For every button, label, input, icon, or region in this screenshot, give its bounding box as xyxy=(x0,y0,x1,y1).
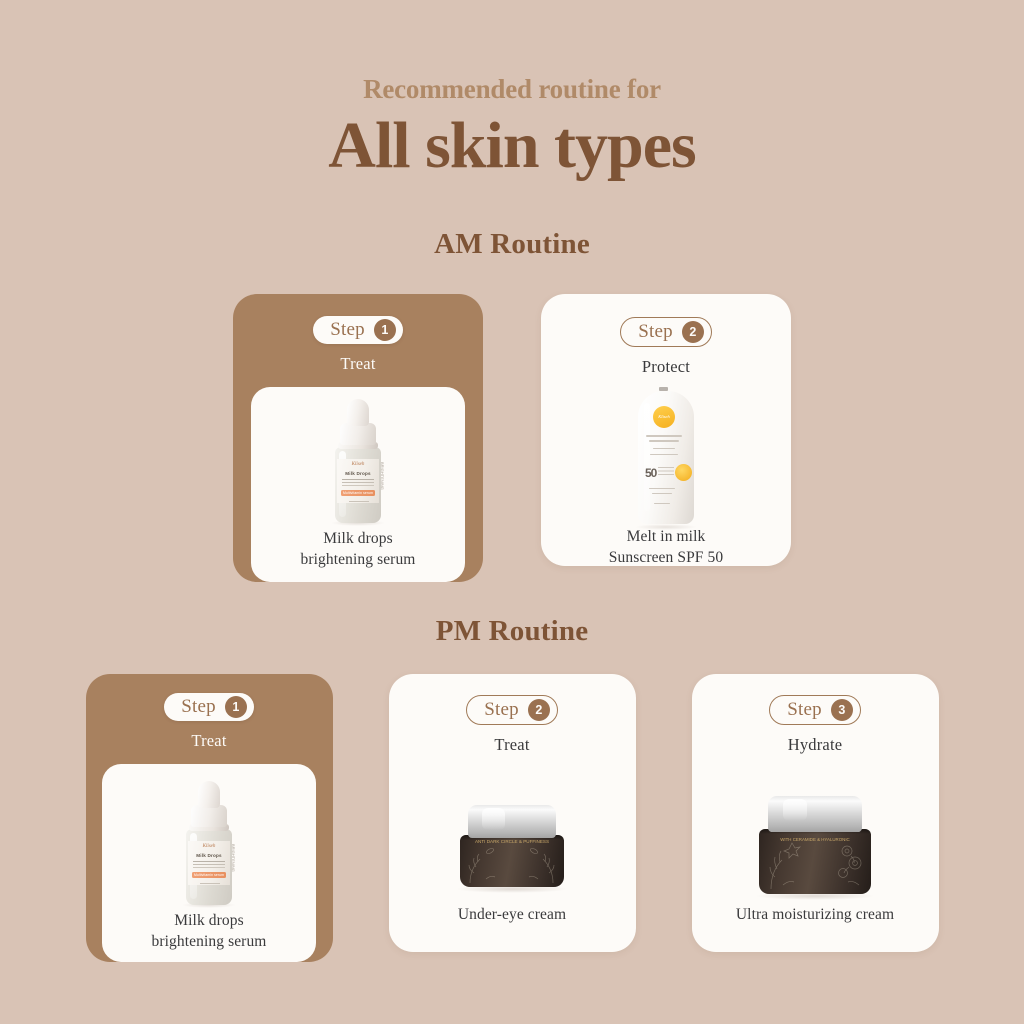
tube-brand-text: Kliseh xyxy=(653,414,675,419)
product-name-line1: Under-eye cream xyxy=(458,906,566,923)
jar-subtitle-text: WITH CERAMIDE & HYALURONIC xyxy=(759,837,871,842)
product-name-line2: Sunscreen SPF 50 xyxy=(609,549,723,566)
product-panel: Kliseh Milk Drops Multivitamin serum BRI… xyxy=(102,764,316,962)
infographic-page: Recommended routine for All skin types A… xyxy=(0,0,1024,1024)
product-image-sunscreen: Kliseh 50 xyxy=(601,385,731,527)
step-action-label: Treat xyxy=(191,731,226,751)
header-eyebrow: Recommended routine for xyxy=(0,74,1024,105)
step-badge-1: Step 1 xyxy=(313,316,403,344)
jar-subtitle-text: ANTI DARK CIRCLE & PUFFINESS xyxy=(460,839,564,844)
product-panel: Kliseh Milk Drops Multivitamin serum BRI… xyxy=(251,387,465,582)
step-label: Step xyxy=(484,700,519,719)
step-action-label: Protect xyxy=(642,357,690,377)
product-image-serum: Kliseh Milk Drops Multivitamin serum BRI… xyxy=(144,772,274,905)
product-name: Milk drops brightening serum xyxy=(301,529,416,571)
product-panel: Kliseh ULTRA MOISTURIZING CREAM WITH CER… xyxy=(692,763,939,952)
step-number: 1 xyxy=(374,319,396,341)
product-name: Milk drops brightening serum xyxy=(152,911,267,953)
serum-side-text: BRIGHTENING xyxy=(380,462,385,490)
step-number: 1 xyxy=(225,696,247,718)
cream-jar-icon: Kliseh ULTRA MOISTURIZING CREAM WITH CER… xyxy=(759,796,871,896)
step-number: 3 xyxy=(831,699,853,721)
product-name-line1: Melt in milk xyxy=(627,528,706,545)
serum-title-text: Milk Drops xyxy=(337,471,379,476)
product-name-line1: Ultra moisturizing cream xyxy=(736,906,894,923)
serum-band-text: Multivitamin serum xyxy=(192,873,226,877)
step-label: Step xyxy=(330,320,365,339)
product-name: Melt in milk Sunscreen SPF 50 xyxy=(609,527,723,569)
step-action-label: Hydrate xyxy=(788,735,843,755)
serum-band-text: Multivitamin serum xyxy=(341,491,375,495)
product-name-line2: brightening serum xyxy=(152,933,267,950)
am-step-card-1[interactable]: Step 1 Treat Kliseh Milk Drops Multivita… xyxy=(233,294,483,582)
product-panel: Kliseh UNDER EYE CREAM ANTI DARK CIRCLE … xyxy=(389,763,636,952)
step-action-label: Treat xyxy=(340,354,375,374)
step-number: 2 xyxy=(528,699,550,721)
pm-step-card-2[interactable]: Step 2 Treat xyxy=(389,674,636,952)
step-label: Step xyxy=(787,700,822,719)
pm-routine-title: PM Routine xyxy=(0,615,1024,648)
step-badge-2: Step 2 xyxy=(620,317,712,347)
pm-step-card-3[interactable]: Step 3 Hydrate xyxy=(692,674,939,952)
sunscreen-tube-icon: Kliseh 50 xyxy=(633,387,699,527)
serum-brand-text: Kliseh xyxy=(337,462,379,467)
step-label: Step xyxy=(181,697,216,716)
pm-routine-row: Step 1 Treat Kliseh Milk Drops Multivita… xyxy=(0,674,1024,962)
product-panel: Kliseh 50 Melt in milk xyxy=(541,385,791,591)
serum-bottle-icon: Kliseh Milk Drops Multivitamin serum BRI… xyxy=(328,399,388,523)
pm-step-card-1[interactable]: Step 1 Treat Kliseh Milk Drops Multivita… xyxy=(86,674,333,962)
am-step-card-2[interactable]: Step 2 Protect Kliseh 5 xyxy=(541,294,791,566)
product-name: Ultra moisturizing cream xyxy=(736,905,894,926)
page-title: All skin types xyxy=(0,109,1024,183)
product-image-serum: Kliseh Milk Drops Multivitamin serum BRI… xyxy=(293,395,423,523)
product-image-moisturizing-cream: Kliseh ULTRA MOISTURIZING CREAM WITH CER… xyxy=(735,763,895,896)
cream-jar-icon: Kliseh UNDER EYE CREAM ANTI DARK CIRCLE … xyxy=(460,805,564,889)
sun-icon xyxy=(675,464,692,481)
step-action-label: Treat xyxy=(494,735,529,755)
product-name-line1: Milk drops xyxy=(323,530,392,547)
serum-title-text: Milk Drops xyxy=(188,853,230,858)
am-routine-row: Step 1 Treat Kliseh Milk Drops Multivita… xyxy=(0,294,1024,582)
am-routine-title: AM Routine xyxy=(0,228,1024,261)
product-image-under-eye-cream: Kliseh UNDER EYE CREAM ANTI DARK CIRCLE … xyxy=(437,763,587,889)
step-badge-2: Step 2 xyxy=(466,695,558,725)
product-name: Under-eye cream xyxy=(458,905,566,926)
step-badge-1: Step 1 xyxy=(164,693,254,721)
tube-spf-text: 50 xyxy=(645,466,656,480)
serum-bottle-icon: Kliseh Milk Drops Multivitamin serum BRI… xyxy=(179,781,239,905)
step-label: Step xyxy=(638,322,673,341)
serum-brand-text: Kliseh xyxy=(188,844,230,849)
step-number: 2 xyxy=(682,321,704,343)
step-badge-3: Step 3 xyxy=(769,695,861,725)
product-name-line2: brightening serum xyxy=(301,551,416,568)
serum-side-text: BRIGHTENING xyxy=(231,844,236,872)
page-header: Recommended routine for All skin types xyxy=(0,0,1024,183)
product-name-line1: Milk drops xyxy=(174,912,243,929)
